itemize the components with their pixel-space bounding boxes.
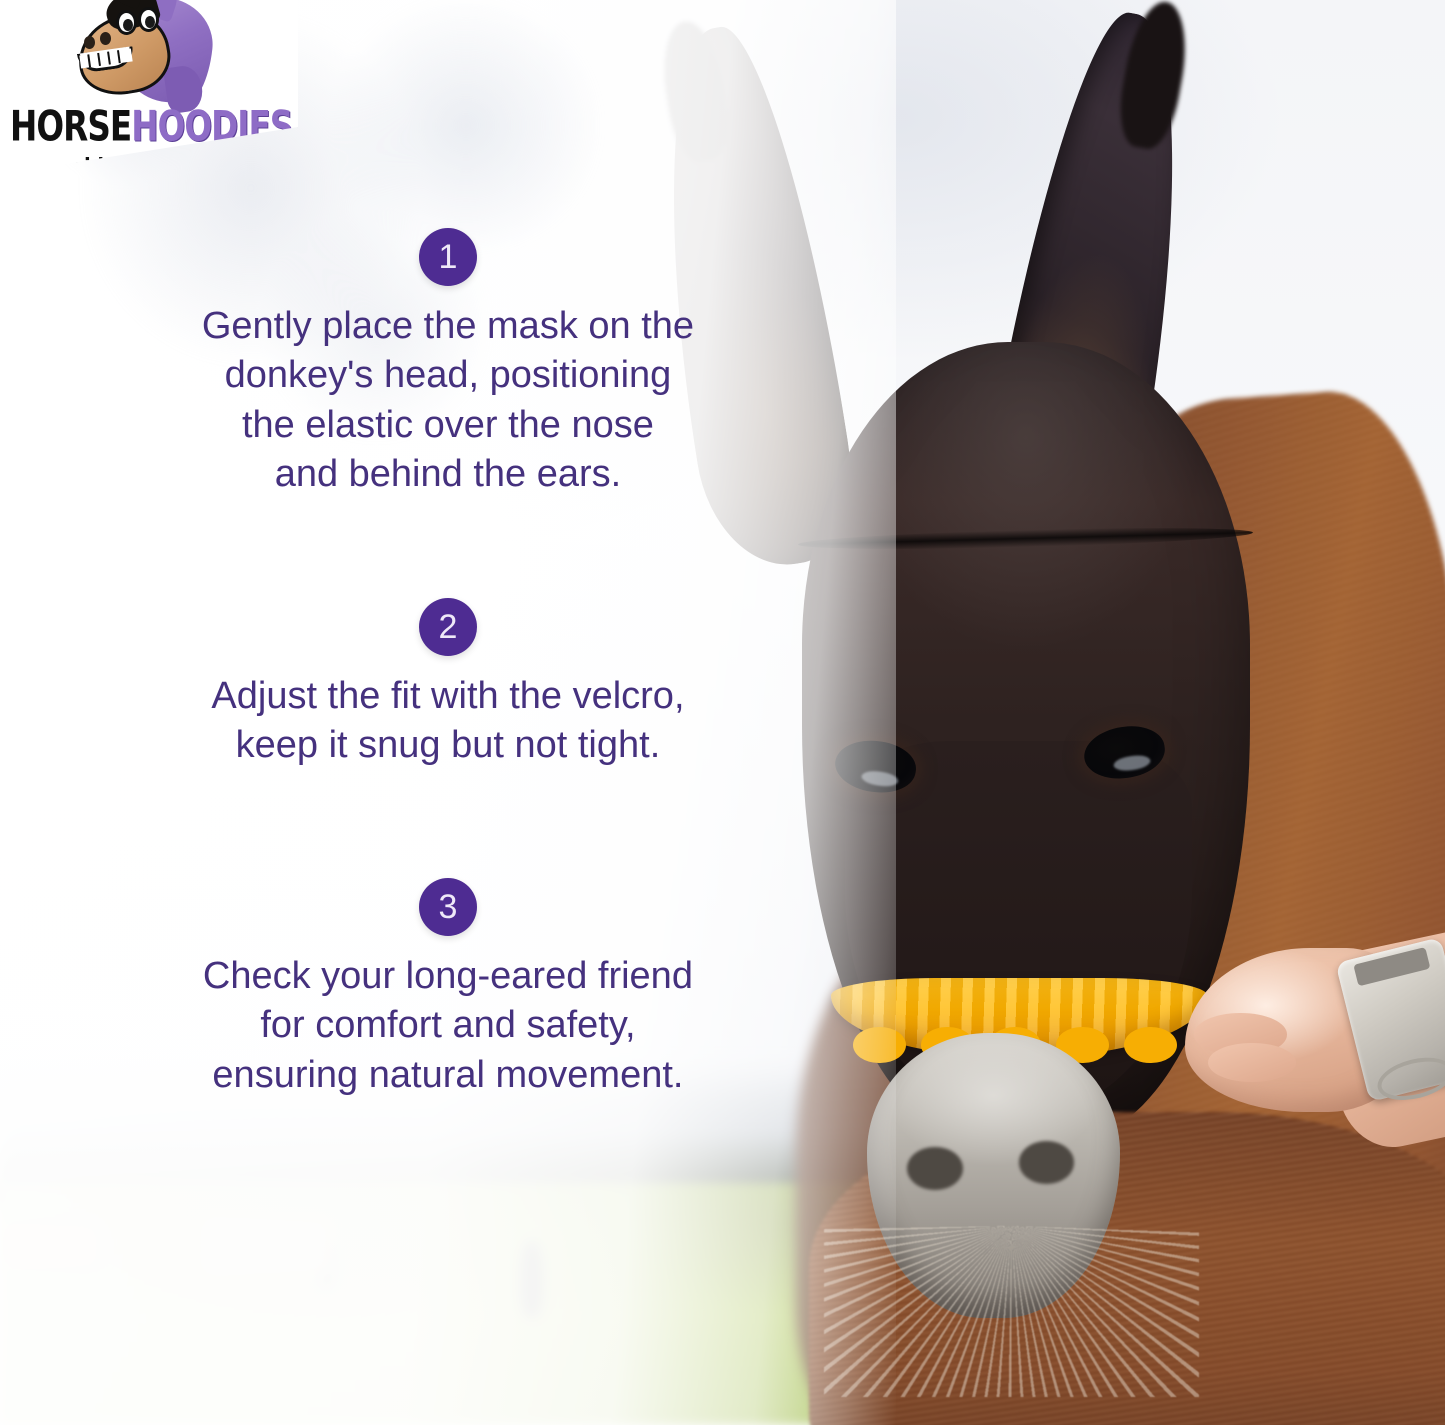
step-2-number-badge: 2 (419, 598, 477, 656)
step-1: 1 Gently place the mask on the donkey's … (0, 228, 896, 500)
infographic-canvas: HORSEHOODIES ride bug free 1 Gently plac… (0, 0, 1445, 1425)
steps-list: 1 Gently place the mask on the donkey's … (0, 0, 896, 1425)
step-2: 2 Adjust the fit with the velcro, keep i… (0, 598, 896, 771)
step-1-text: Gently place the mask on the donkey's he… (0, 302, 896, 500)
step-2-text: Adjust the fit with the velcro, keep it … (0, 672, 896, 771)
step-3-text: Check your long-eared friend for comfort… (0, 952, 896, 1100)
step-3: 3 Check your long-eared friend for comfo… (0, 878, 896, 1100)
step-1-number-badge: 1 (419, 228, 477, 286)
step-3-number-badge: 3 (419, 878, 477, 936)
